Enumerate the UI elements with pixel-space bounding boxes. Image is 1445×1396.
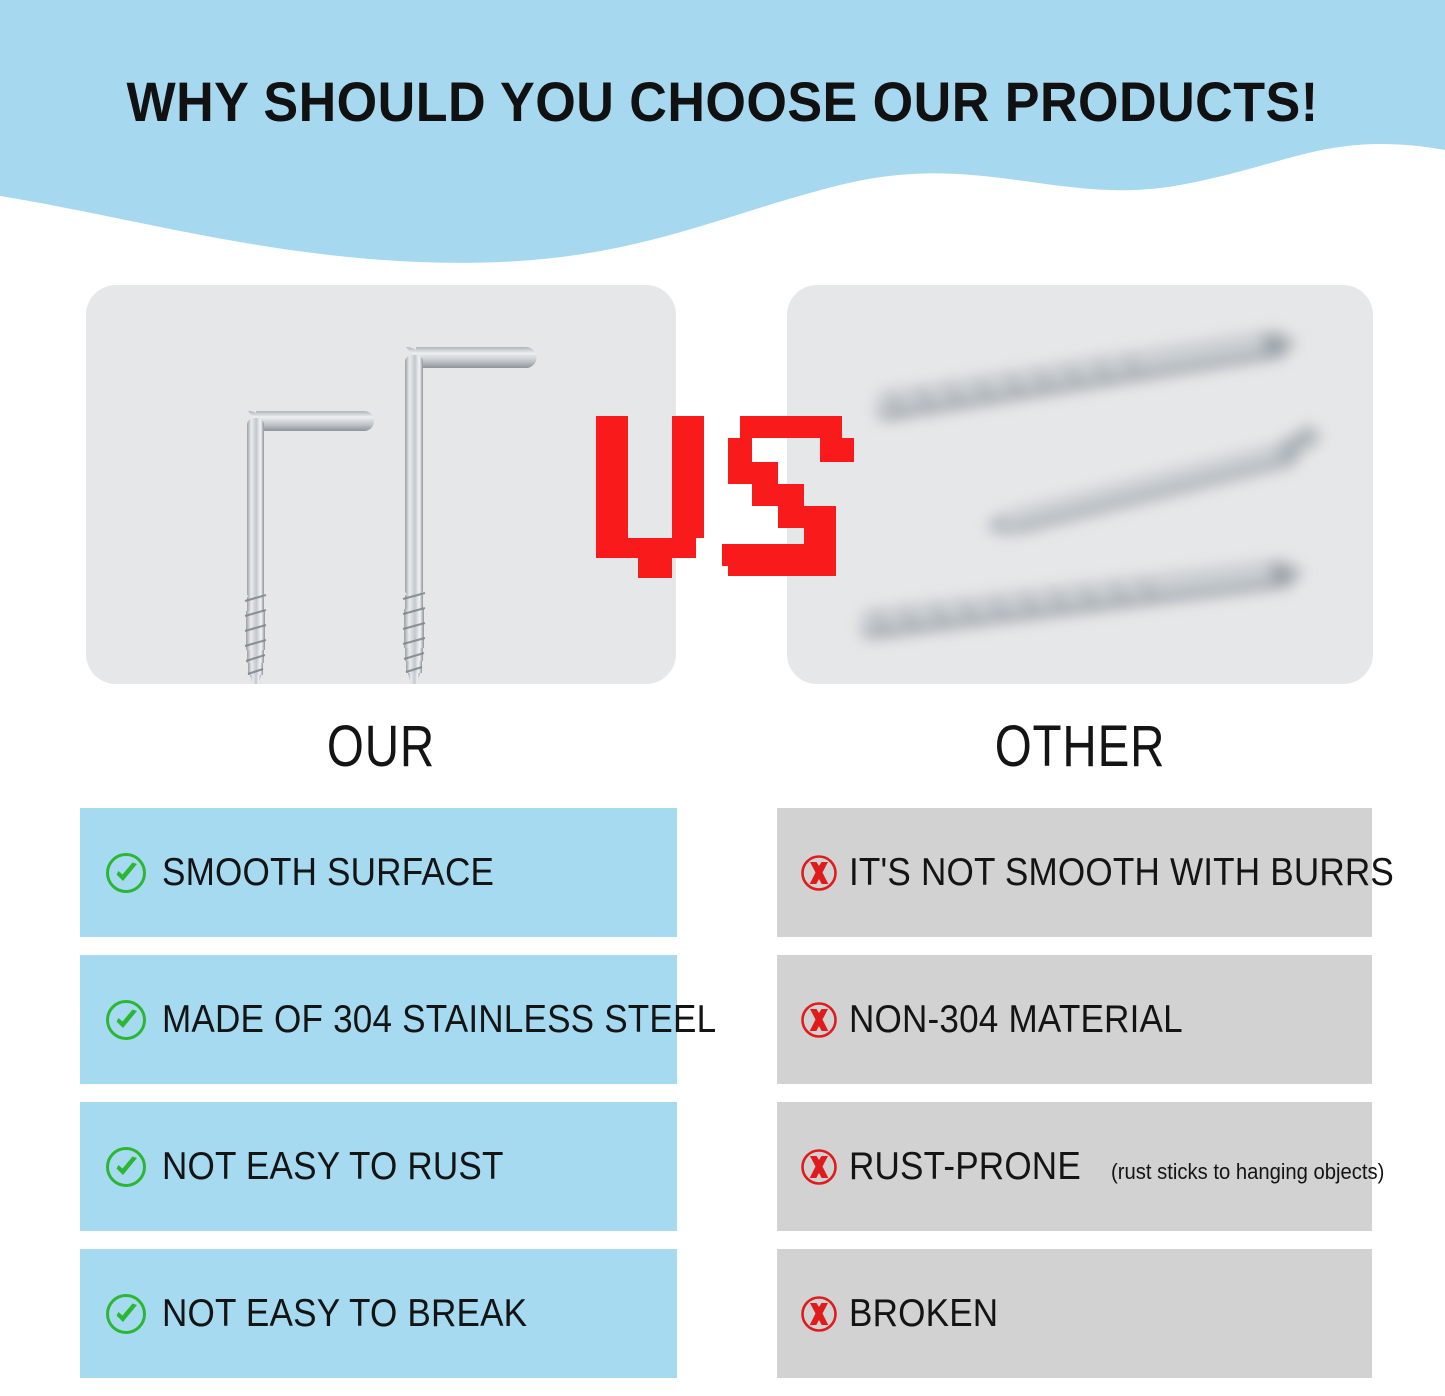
check-circle-icon	[104, 851, 148, 895]
other-product-photo	[787, 285, 1373, 684]
column-heading-other: OTHER	[840, 718, 1321, 776]
feature-label: MADE OF 304 STAINLESS STEEL	[162, 1000, 716, 1039]
feature-label: SMOOTH SURFACE	[162, 853, 494, 892]
page-title: WHY SHOULD YOU CHOOSE OUR PRODUCTS!	[51, 74, 1395, 130]
feature-label: NON-304 MATERIAL	[849, 1000, 1183, 1039]
hook-short	[245, 411, 374, 684]
x-circle-icon	[799, 853, 839, 893]
feature-list-our: SMOOTH SURFACE MADE OF 304 STAINLESS STE…	[80, 808, 677, 1396]
check-circle-icon	[104, 1145, 148, 1189]
feature-row-other: RUST-PRONE (rust sticks to hanging objec…	[777, 1102, 1372, 1231]
vs-letter-v	[596, 416, 704, 578]
feature-row-other: IT'S NOT SMOOTH WITH BURRS	[777, 808, 1372, 937]
feature-note: (rust sticks to hanging objects)	[1111, 1161, 1384, 1183]
x-circle-icon	[799, 1000, 839, 1040]
column-heading-our: OUR	[139, 718, 623, 776]
feature-label: BROKEN	[849, 1294, 998, 1333]
vs-pixel-text	[588, 398, 858, 598]
feature-label: IT'S NOT SMOOTH WITH BURRS	[849, 853, 1394, 892]
feature-row-our: NOT EASY TO RUST	[80, 1102, 677, 1231]
feature-label: RUST-PRONE	[849, 1147, 1081, 1186]
feature-row-our: MADE OF 304 STAINLESS STEEL	[80, 955, 677, 1084]
feature-row-other: BROKEN	[777, 1249, 1372, 1378]
feature-list-other: IT'S NOT SMOOTH WITH BURRS NON-304 MATER…	[777, 808, 1372, 1396]
check-circle-icon	[104, 1292, 148, 1336]
header-banner: WHY SHOULD YOU CHOOSE OUR PRODUCTS!	[0, 0, 1445, 270]
check-circle-icon	[104, 998, 148, 1042]
hook-tall	[403, 347, 537, 684]
feature-row-other: NON-304 MATERIAL	[777, 955, 1372, 1084]
feature-row-our: NOT EASY TO BREAK	[80, 1249, 677, 1378]
banner-wave-shape	[0, 0, 1445, 270]
x-circle-icon	[799, 1294, 839, 1334]
feature-label: NOT EASY TO RUST	[162, 1147, 504, 1186]
vs-letter-s	[722, 416, 854, 576]
feature-label: NOT EASY TO BREAK	[162, 1294, 527, 1333]
feature-row-our: SMOOTH SURFACE	[80, 808, 677, 937]
product-image-panel-other	[787, 285, 1373, 684]
vs-badge	[588, 398, 858, 598]
x-circle-icon	[799, 1147, 839, 1187]
